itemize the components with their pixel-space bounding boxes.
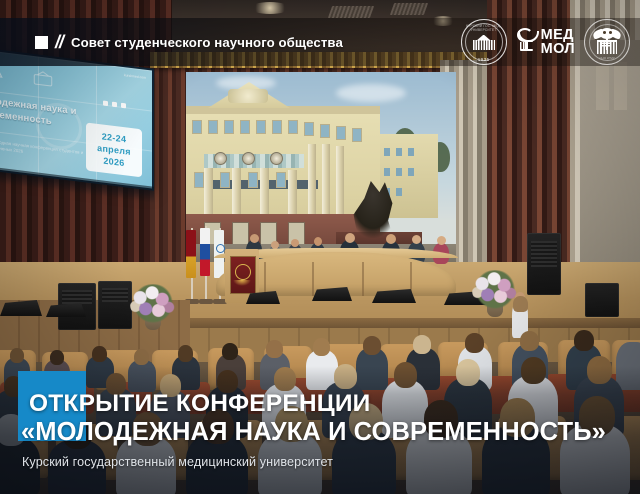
header-bar: // Совет студенческого научного общества… — [0, 18, 640, 66]
mural-window — [208, 120, 218, 134]
header-title: Совет студенческого научного общества — [71, 35, 343, 50]
caption-line-2: «МОЛОДЕЖНАЯ НАУКА И СОВРЕМЕННОСТЬ» — [21, 420, 606, 446]
mural-window — [396, 168, 402, 176]
mural-medallion — [242, 152, 255, 165]
mural-column — [288, 170, 297, 216]
flower-bouquet-right — [472, 270, 518, 310]
mural-window — [220, 172, 230, 188]
mural-window — [396, 148, 402, 156]
white-square-icon — [35, 36, 48, 49]
medmol-logo[interactable]: МЕД МОЛ — [516, 28, 575, 56]
conference-photo-card: kurskmed.com Молодежная наука и современ… — [0, 0, 640, 494]
ksmu-seal-arc-text: КУРСКИЙ ГОС. МЕД. УНИВЕРСИТЕТ — [462, 24, 506, 32]
sno-owl-seal-logo[interactable]: СНО КГМУ — [584, 19, 630, 65]
ceiling-vent-icon — [390, 3, 428, 15]
presidium-member-head — [437, 236, 446, 245]
header-title-group: // Совет студенческого научного общества — [0, 33, 461, 51]
slide-date-box: 22-24 апреля 2026 — [86, 122, 142, 177]
loudspeaker-grill — [531, 241, 557, 267]
presidium-member-head — [345, 233, 355, 243]
podium-emblem-rays — [233, 280, 251, 286]
flag-base — [199, 299, 213, 304]
standing-attendee-hair — [513, 296, 528, 312]
slide-date-year: 2026 — [103, 155, 124, 169]
mural-column — [308, 144, 316, 216]
owl-icon — [593, 27, 621, 57]
mural-window — [192, 120, 202, 134]
mural-window — [384, 148, 390, 156]
mural-window — [408, 168, 414, 176]
ksmu-seal-logo[interactable]: КУРСКИЙ ГОС. МЕД. УНИВЕРСИТЕТ 1935 — [461, 19, 507, 65]
presidium-member-head — [412, 235, 421, 244]
wall-panel — [596, 66, 609, 110]
mural-window — [352, 128, 362, 142]
mural-window — [256, 120, 266, 134]
medmol-line2: МОЛ — [541, 42, 575, 56]
wall-panel — [614, 62, 627, 110]
flower-bouquet-left — [130, 284, 176, 324]
slide-logo-secondary-icon — [32, 70, 54, 89]
ksmu-seal-building-icon — [473, 35, 495, 50]
table-seam — [264, 262, 266, 296]
flag-kursk-region — [186, 230, 196, 278]
sno-seal-arc-text: СНО КГМУ — [585, 56, 629, 60]
medmol-line1: МЕД — [541, 28, 575, 42]
table-seam — [312, 262, 314, 296]
mural-medallion — [270, 152, 283, 165]
bowl-of-hygieia-icon — [516, 29, 538, 55]
mural-window — [248, 172, 258, 188]
loudspeaker-grill — [102, 288, 128, 302]
mural-window — [194, 172, 204, 188]
presidium-member-head — [250, 234, 259, 243]
flag-ksmu-emblem — [216, 244, 225, 253]
presidium-member-head — [314, 237, 322, 246]
mural-window — [384, 168, 390, 176]
mural-crest — [228, 89, 268, 103]
presidium-member-head — [386, 234, 396, 244]
ceiling-vent-icon — [328, 6, 374, 18]
mural-cloud — [336, 84, 406, 102]
mural-window — [276, 172, 286, 188]
podium-emblem-icon — [235, 264, 251, 280]
medmol-wordmark: МЕД МОЛ — [541, 28, 575, 56]
mural-window — [288, 120, 298, 134]
presidium-member-head — [291, 239, 299, 247]
mural-window — [408, 148, 414, 156]
mural-window — [224, 120, 234, 134]
mural-window — [304, 122, 314, 136]
header-logos: КУРСКИЙ ГОС. МЕД. УНИВЕРСИТЕТ 1935 МЕД М… — [461, 19, 640, 65]
mural-window — [272, 120, 282, 134]
mural-column — [336, 146, 344, 216]
flag-russia — [200, 228, 210, 276]
caption-subtitle: Курский государственный медицинский унив… — [22, 455, 333, 469]
slashes-icon: // — [55, 33, 63, 51]
mural-window — [240, 120, 250, 134]
projection-slide: kurskmed.com Молодежная наука и современ… — [0, 49, 152, 188]
loudspeaker-right2 — [585, 283, 619, 317]
mural-medallion — [214, 152, 227, 165]
projection-screen: kurskmed.com Молодежная наука и современ… — [0, 47, 154, 191]
table-seam — [362, 262, 364, 296]
mural-window — [396, 188, 402, 196]
ksmu-seal-year: 1935 — [462, 57, 506, 62]
mural-window — [320, 124, 330, 138]
mural-column — [232, 168, 241, 216]
mural-column — [204, 168, 213, 216]
loudspeaker-grill — [62, 290, 92, 304]
caption-line-1: ОТКРЫТИЕ КОНФЕРЕНЦИИ — [29, 392, 370, 417]
mural-column — [260, 168, 269, 216]
mural-column — [322, 144, 330, 216]
ceiling-light — [250, 2, 290, 14]
mural-window — [336, 126, 346, 140]
